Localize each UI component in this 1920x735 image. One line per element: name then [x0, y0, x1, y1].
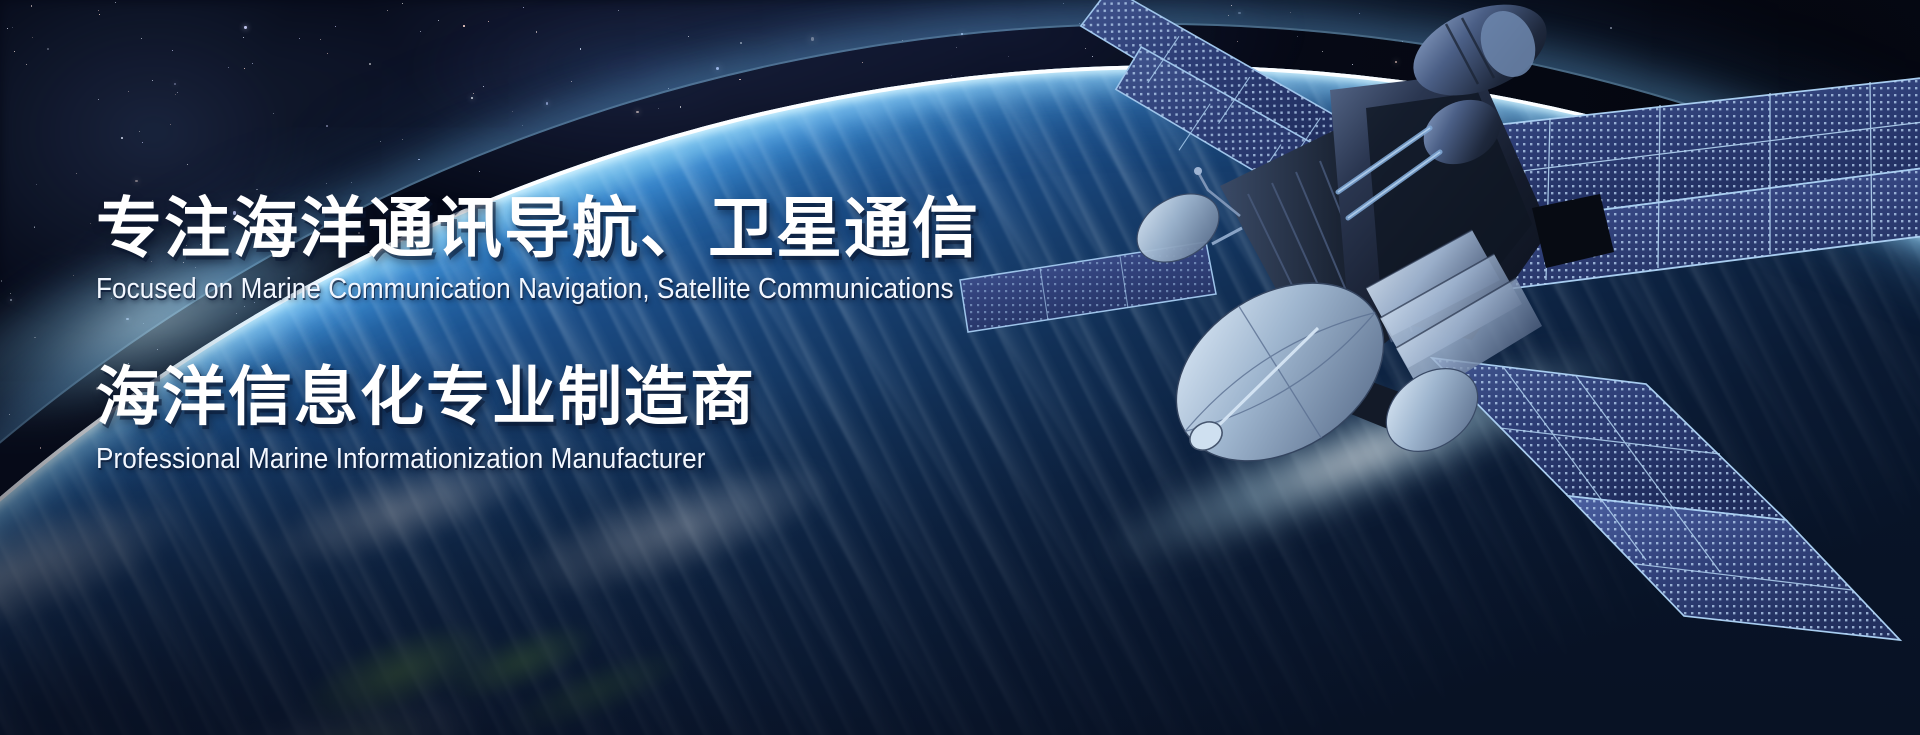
star [369, 63, 371, 65]
star [402, 3, 403, 4]
star [387, 10, 388, 11]
star [522, 125, 523, 126]
communications-satellite [1080, 0, 1920, 540]
star [740, 42, 742, 44]
star [121, 137, 123, 139]
star [299, 38, 300, 39]
subheadline-english-primary: Focused on Marine Communication Navigati… [96, 274, 1086, 304]
star [12, 27, 13, 28]
headline-block-1: 专注海洋通讯导航、卫星通信 Focused on Marine Communic… [96, 196, 1196, 304]
star [177, 92, 178, 93]
headline-chinese-secondary: 海洋信息化专业制造商 [96, 366, 1196, 430]
star [98, 10, 99, 11]
star [402, 139, 403, 140]
star [174, 83, 176, 85]
star [141, 38, 142, 39]
star [479, 171, 480, 172]
star [115, 2, 116, 3]
star [7, 28, 8, 29]
star [128, 91, 129, 92]
star [523, 7, 524, 8]
star [90, 223, 91, 224]
star [14, 51, 15, 52]
star [618, 10, 619, 11]
star [488, 21, 489, 22]
hero-banner: 专注海洋通讯导航、卫星通信 Focused on Marine Communic… [0, 0, 1920, 735]
star [32, 37, 33, 38]
subheadline-english-secondary: Professional Marine Informationization M… [96, 444, 1086, 474]
star [326, 183, 327, 184]
star [420, 31, 421, 32]
star [139, 131, 140, 132]
star [483, 86, 484, 87]
star [326, 125, 328, 127]
star [546, 102, 548, 104]
block-spacer [96, 304, 1196, 366]
star [320, 39, 321, 40]
star [380, 141, 381, 142]
star [34, 227, 35, 228]
star [680, 106, 682, 108]
star [98, 99, 99, 100]
star [252, 63, 253, 64]
star [327, 53, 329, 55]
star [34, 337, 36, 339]
star [243, 37, 244, 38]
star [135, 180, 137, 182]
star [512, 111, 513, 112]
star [463, 25, 465, 27]
star [172, 50, 173, 51]
headline-chinese-primary: 专注海洋通讯导航、卫星通信 [96, 196, 1196, 262]
headline-block-2: 海洋信息化专业制造商 Professional Marine Informati… [96, 366, 1196, 474]
star [31, 5, 33, 7]
star [716, 67, 719, 70]
star [351, 182, 352, 183]
star [170, 124, 171, 125]
star [1, 280, 3, 282]
star [244, 26, 246, 28]
star [76, 173, 77, 174]
star [36, 184, 37, 185]
star [10, 293, 11, 294]
star [438, 20, 439, 21]
star [636, 111, 638, 113]
star [273, 113, 274, 114]
star [902, 40, 904, 42]
star [244, 68, 245, 69]
star [811, 37, 814, 40]
star [473, 93, 474, 94]
star [471, 97, 473, 99]
star [26, 64, 27, 65]
star [536, 31, 538, 33]
star [688, 36, 689, 37]
star [580, 48, 582, 50]
star [175, 94, 176, 95]
star [668, 88, 669, 89]
headline-copy-block: 专注海洋通讯导航、卫星通信 Focused on Marine Communic… [96, 196, 1196, 475]
star [73, 275, 74, 276]
star [335, 26, 336, 27]
star [152, 80, 153, 81]
star [228, 67, 229, 68]
star [658, 108, 659, 109]
star [739, 79, 741, 81]
star [418, 159, 420, 161]
star [47, 48, 49, 50]
star [571, 81, 572, 82]
satellite-illustration [1080, 0, 1920, 540]
star [187, 164, 188, 165]
star [142, 142, 143, 143]
star [10, 299, 12, 301]
star [99, 14, 100, 15]
